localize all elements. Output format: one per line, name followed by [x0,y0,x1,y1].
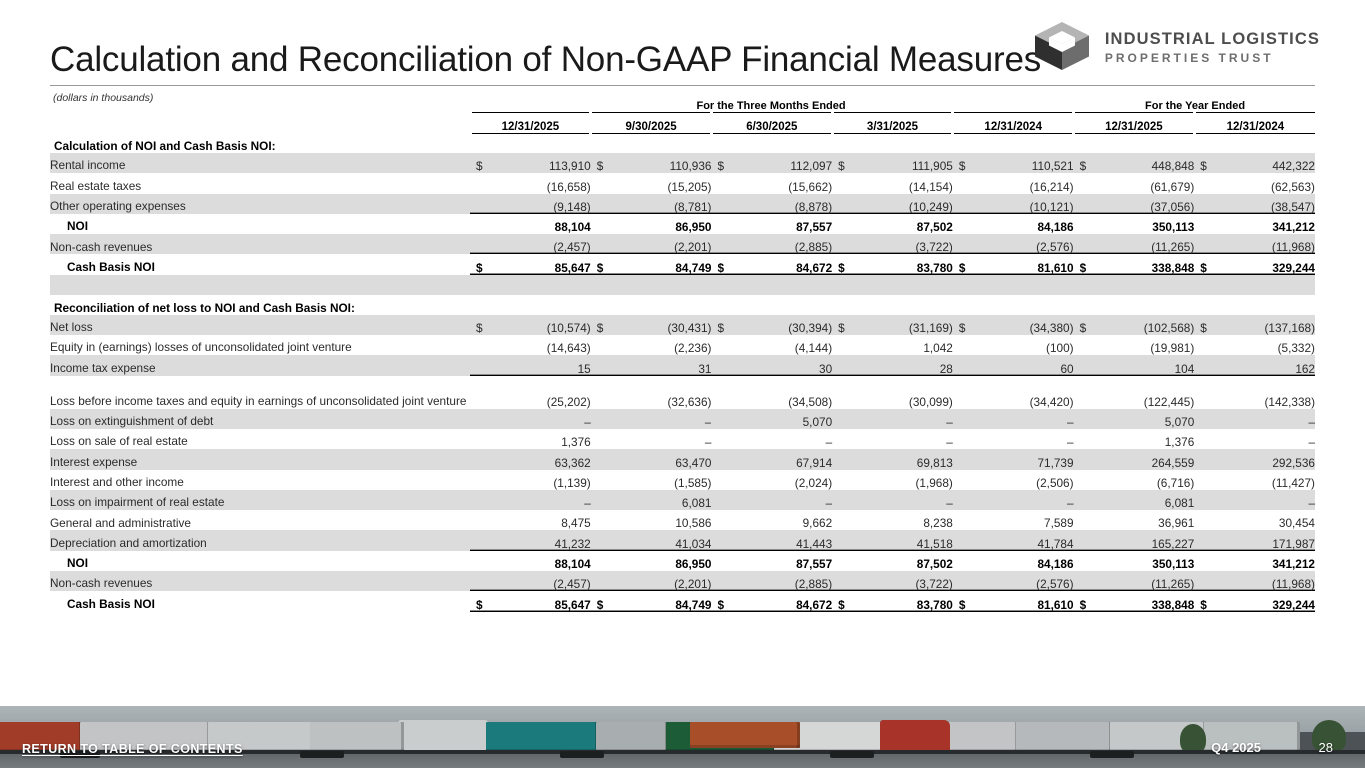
currency-symbol: $ [597,598,604,612]
cell-value: (30,099) [832,376,953,409]
cell-value: 88,104 [470,551,591,571]
currency-symbol: $ [597,261,604,275]
cell-value: 264,559 [1074,449,1195,469]
cell-value: (2,201) [591,571,712,591]
currency-symbol: $ [1080,321,1087,335]
currency-symbol: $ [1200,261,1207,275]
group-header-2: For the Year Ended [1074,90,1315,112]
cell-value: $329,244 [1194,254,1315,274]
cell-value: – [711,429,832,449]
cell-value: (16,214) [953,173,1074,193]
section2-title: Reconciliation of net loss to NOI and Ca… [50,295,1315,315]
row-label: Other operating expenses [50,194,470,214]
cell-value: 67,914 [711,449,832,469]
logo-secondary-text: PROPERTIES TRUST [1105,52,1320,64]
cell-value: 69,813 [832,449,953,469]
table-row: NOI88,10486,95087,55787,50284,186350,113… [50,551,1315,571]
cell-value: 1,376 [470,429,591,449]
slide: Calculation and Reconciliation of Non-GA… [0,0,1365,768]
cell-value: $85,647 [470,254,591,274]
cell-value: 86,950 [591,551,712,571]
column-header-6-30-2025: 6/30/2025 [711,112,832,133]
cell-value: $(102,568) [1074,315,1195,335]
cell-value: 5,070 [1074,409,1195,429]
table-row: Interest and other income(1,139)(1,585)(… [50,470,1315,490]
table-row: Equity in (earnings) losses of unconsoli… [50,335,1315,355]
currency-symbol: $ [476,321,483,335]
cell-value: $84,749 [591,254,712,274]
cell-value: $111,905 [832,153,953,173]
cell-value: (14,154) [832,173,953,193]
cell-value: (11,968) [1194,234,1315,254]
section-separator-band-cell [50,275,1315,295]
cell-value: (14,643) [470,335,591,355]
cell-value: (38,547) [1194,194,1315,214]
cell-value: (2,457) [470,234,591,254]
currency-symbol: $ [476,159,483,173]
cell-value: (32,636) [591,376,712,409]
cell-value: – [1194,490,1315,510]
cell-value: 350,113 [1074,551,1195,571]
title-divider [50,85,1315,86]
cell-value: 5,070 [711,409,832,429]
cell-value: (62,563) [1194,173,1315,193]
currency-symbol: $ [717,159,724,173]
cell-value: (9,148) [470,194,591,214]
row-label: Real estate taxes [50,173,470,193]
table-row: Cash Basis NOI$85,647$84,749$84,672$83,7… [50,254,1315,274]
row-label: Cash Basis NOI [50,254,470,274]
return-to-table-of-contents-link[interactable]: RETURN TO TABLE OF CONTENTS [22,742,243,756]
section-heading-row: Reconciliation of net loss to NOI and Ca… [50,295,1315,315]
cell-value: 60 [953,355,1074,375]
row-label: Cash Basis NOI [50,591,470,611]
cell-value: (8,781) [591,194,712,214]
currency-symbol: $ [1200,598,1207,612]
cell-value: (15,205) [591,173,712,193]
table-body: Calculation of NOI and Cash Basis NOI:Re… [50,133,1315,612]
table-row: Net loss$(10,574)$(30,431)$(30,394)$(31,… [50,315,1315,335]
table-row: Other operating expenses(9,148)(8,781)(8… [50,194,1315,214]
cell-value: – [832,490,953,510]
cell-value: 36,961 [1074,510,1195,530]
cell-value: – [591,409,712,429]
cell-value: (10,249) [832,194,953,214]
cell-value: (2,506) [953,470,1074,490]
cell-value: (11,968) [1194,571,1315,591]
cell-value: (25,202) [470,376,591,409]
cell-value: (2,885) [711,571,832,591]
cell-value: 88,104 [470,214,591,234]
cell-value: (2,024) [711,470,832,490]
cell-value: (3,722) [832,571,953,591]
cell-value: (6,716) [1074,470,1195,490]
cell-value: 41,034 [591,530,712,550]
cell-value: 41,784 [953,530,1074,550]
table-row: Loss before income taxes and equity in e… [50,376,1315,409]
cell-value: (19,981) [1074,335,1195,355]
cell-value: $81,610 [953,591,1074,611]
cell-value: (8,878) [711,194,832,214]
row-label: Loss before income taxes and equity in e… [50,376,470,409]
cell-value: 30,454 [1194,510,1315,530]
cell-value: $113,910 [470,153,591,173]
quarter-label: Q4 2025 [1211,740,1261,755]
cell-value: $110,936 [591,153,712,173]
cell-value: 341,212 [1194,551,1315,571]
cell-value: 87,502 [832,551,953,571]
cell-value: $338,848 [1074,254,1195,274]
row-label: Rental income [50,153,470,173]
currency-symbol: $ [959,321,966,335]
group-header-row: For the Three Months EndedFor the Year E… [50,90,1315,112]
logo-primary-text: INDUSTRIAL LOGISTICS [1105,31,1320,48]
cell-value: (142,338) [1194,376,1315,409]
cell-value: $(34,380) [953,315,1074,335]
cell-value: (37,056) [1074,194,1195,214]
cell-value: 165,227 [1074,530,1195,550]
non-gaap-reconciliation-table: For the Three Months EndedFor the Year E… [50,90,1315,612]
currency-symbol: $ [1080,159,1087,173]
cell-value: (11,265) [1074,571,1195,591]
cell-value: 7,589 [953,510,1074,530]
row-label: NOI [50,214,470,234]
cell-value: $448,848 [1074,153,1195,173]
cell-value: 104 [1074,355,1195,375]
currency-symbol: $ [1080,598,1087,612]
cell-value: 30 [711,355,832,375]
cell-value: – [591,429,712,449]
table-row: Real estate taxes(16,658)(15,205)(15,662… [50,173,1315,193]
cell-value: $(10,574) [470,315,591,335]
group-header-1: For the Three Months Ended [470,90,1074,112]
cell-value: – [711,490,832,510]
cell-value: (100) [953,335,1074,355]
cell-value: (34,420) [953,376,1074,409]
currency-symbol: $ [597,321,604,335]
cell-value: $84,749 [591,591,712,611]
cell-value: $84,672 [711,254,832,274]
table-row: Non-cash revenues(2,457)(2,201)(2,885)(3… [50,571,1315,591]
table-row: Interest expense63,36263,47067,91469,813… [50,449,1315,469]
cell-value: $338,848 [1074,591,1195,611]
units-note: (dollars in thousands) [53,92,153,104]
currency-symbol: $ [717,598,724,612]
cell-value: – [953,409,1074,429]
cell-value: (34,508) [711,376,832,409]
cell-value: (11,427) [1194,470,1315,490]
row-label: Non-cash revenues [50,571,470,591]
table-row: General and administrative8,47510,5869,6… [50,510,1315,530]
table-header: For the Three Months EndedFor the Year E… [50,90,1315,133]
cell-value: (1,585) [591,470,712,490]
cell-value: – [470,409,591,429]
cell-value: $(137,168) [1194,315,1315,335]
row-label: Interest expense [50,449,470,469]
currency-symbol: $ [717,261,724,275]
row-label: Loss on sale of real estate [50,429,470,449]
cell-value: 171,987 [1194,530,1315,550]
cell-value: $84,672 [711,591,832,611]
cell-value: $(31,169) [832,315,953,335]
currency-symbol: $ [838,598,845,612]
currency-symbol: $ [476,261,483,275]
cell-value: (2,576) [953,234,1074,254]
cell-value: 341,212 [1194,214,1315,234]
cell-value: (1,139) [470,470,591,490]
cell-value: 8,238 [832,510,953,530]
cell-value: 63,362 [470,449,591,469]
table-row: Loss on sale of real estate1,376––––1,37… [50,429,1315,449]
currency-symbol: $ [1080,261,1087,275]
row-label: Depreciation and amortization [50,530,470,550]
cell-value: (4,144) [711,335,832,355]
column-header-row: 12/31/20259/30/20256/30/20253/31/202512/… [50,112,1315,133]
cell-value: 162 [1194,355,1315,375]
cell-value: 71,739 [953,449,1074,469]
cell-value: (10,121) [953,194,1074,214]
currency-symbol: $ [1200,159,1207,173]
cell-value: $85,647 [470,591,591,611]
cell-value: 350,113 [1074,214,1195,234]
cell-value: 41,443 [711,530,832,550]
cube-logo-icon [1032,20,1092,72]
cell-value: (1,968) [832,470,953,490]
cell-value: $112,097 [711,153,832,173]
cell-value: 1,042 [832,335,953,355]
cell-value: 9,662 [711,510,832,530]
column-header-spacer [50,112,470,133]
cell-value: (2,885) [711,234,832,254]
cell-value: $442,322 [1194,153,1315,173]
row-label: Loss on impairment of real estate [50,490,470,510]
cell-value: 86,950 [591,214,712,234]
slide-footer: RETURN TO TABLE OF CONTENTS Q4 2025 28 [0,706,1365,768]
row-label: Income tax expense [50,355,470,375]
cell-value: 84,186 [953,551,1074,571]
column-header-3-31-2025: 3/31/2025 [832,112,953,133]
cell-value: (2,236) [591,335,712,355]
company-logo: INDUSTRIAL LOGISTICS PROPERTIES TRUST [1032,20,1320,72]
cell-value: 87,557 [711,214,832,234]
row-label: General and administrative [50,510,470,530]
cell-value: 1,376 [1074,429,1195,449]
cell-value: 10,586 [591,510,712,530]
currency-symbol: $ [959,261,966,275]
column-header-12-31-2025: 12/31/2025 [470,112,591,133]
table-row: Rental income$113,910$110,936$112,097$11… [50,153,1315,173]
row-label: Loss on extinguishment of debt [50,409,470,429]
section-separator-band [50,275,1315,295]
currency-symbol: $ [838,159,845,173]
table-row: Income tax expense1531302860104162 [50,355,1315,375]
cell-value: (5,332) [1194,335,1315,355]
cell-value: – [1194,409,1315,429]
column-header-12-31-2024: 12/31/2024 [1194,112,1315,133]
row-label: NOI [50,551,470,571]
currency-symbol: $ [838,261,845,275]
row-label: Equity in (earnings) losses of unconsoli… [50,335,470,355]
column-header-9-30-2025: 9/30/2025 [591,112,712,133]
footer-photo [0,706,1365,768]
currency-symbol: $ [838,321,845,335]
cell-value: 87,502 [832,214,953,234]
table-row: Non-cash revenues(2,457)(2,201)(2,885)(3… [50,234,1315,254]
row-label: Net loss [50,315,470,335]
table-row: NOI88,10486,95087,55787,50284,186350,113… [50,214,1315,234]
currency-symbol: $ [476,598,483,612]
section1-title: Calculation of NOI and Cash Basis NOI: [50,133,1315,153]
cell-value: (3,722) [832,234,953,254]
section-heading-row: Calculation of NOI and Cash Basis NOI: [50,133,1315,153]
cell-value: 292,536 [1194,449,1315,469]
cell-value: $110,521 [953,153,1074,173]
currency-symbol: $ [959,159,966,173]
cell-value: $(30,394) [711,315,832,335]
cell-value: – [470,490,591,510]
cell-value: – [832,429,953,449]
slide-header: Calculation and Reconciliation of Non-GA… [0,0,1365,86]
cell-value: – [1194,429,1315,449]
cell-value: 31 [591,355,712,375]
cell-value: (15,662) [711,173,832,193]
cell-value: (11,265) [1074,234,1195,254]
cell-value: 28 [832,355,953,375]
row-label: Interest and other income [50,470,470,490]
cell-value: 6,081 [591,490,712,510]
cell-value: (2,201) [591,234,712,254]
cell-value: (16,658) [470,173,591,193]
column-header-12-31-2025: 12/31/2025 [1074,112,1195,133]
cell-value: – [832,409,953,429]
cell-value: $(30,431) [591,315,712,335]
currency-symbol: $ [597,159,604,173]
cell-value: 87,557 [711,551,832,571]
cell-value: $83,780 [832,591,953,611]
cell-value: (122,445) [1074,376,1195,409]
cell-value: (61,679) [1074,173,1195,193]
cell-value: 63,470 [591,449,712,469]
cell-value: $83,780 [832,254,953,274]
table-row: Depreciation and amortization41,23241,03… [50,530,1315,550]
page-number: 28 [1319,740,1333,755]
currency-symbol: $ [959,598,966,612]
cell-value: – [953,490,1074,510]
cell-value: (2,457) [470,571,591,591]
cell-value: 8,475 [470,510,591,530]
cell-value: (2,576) [953,571,1074,591]
table-row: Loss on extinguishment of debt––5,070––5… [50,409,1315,429]
cell-value: $329,244 [1194,591,1315,611]
table-row: Cash Basis NOI$85,647$84,749$84,672$83,7… [50,591,1315,611]
cell-value: 41,518 [832,530,953,550]
column-header-12-31-2024: 12/31/2024 [953,112,1074,133]
cell-value: 41,232 [470,530,591,550]
table-row: Loss on impairment of real estate–6,081–… [50,490,1315,510]
cell-value: 6,081 [1074,490,1195,510]
cell-value: 84,186 [953,214,1074,234]
cell-value: 15 [470,355,591,375]
currency-symbol: $ [1200,321,1207,335]
currency-symbol: $ [717,321,724,335]
page-title: Calculation and Reconciliation of Non-GA… [50,40,1041,80]
cell-value: – [953,429,1074,449]
cell-value: $81,610 [953,254,1074,274]
row-label: Non-cash revenues [50,234,470,254]
financial-table-area: (dollars in thousands) For the Three Mon… [50,90,1315,612]
